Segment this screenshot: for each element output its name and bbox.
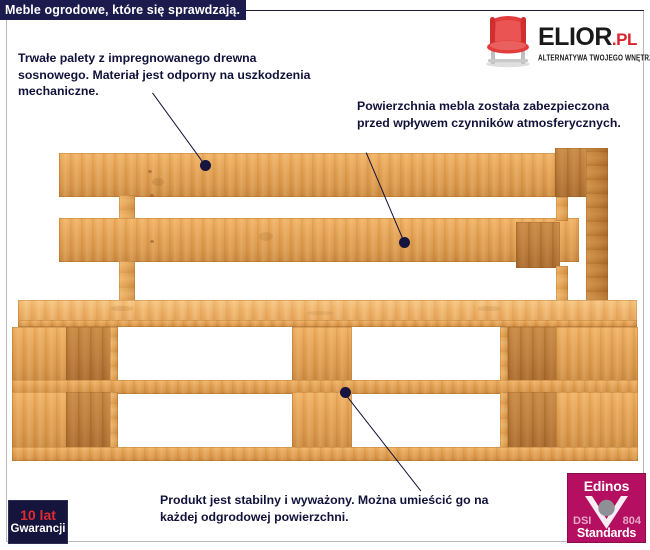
- pallet-block-lower-left-inner: [66, 392, 114, 449]
- pallet-block-upper-right-inner: [508, 327, 560, 382]
- pallet-block-lower-center: [292, 392, 352, 449]
- edinos-subtitle: Standards: [568, 526, 645, 540]
- edinos-title: Edinos: [568, 478, 645, 494]
- edinos-standards-badge: Edinos DSI 804 Standards: [567, 473, 646, 543]
- backrest-post-filler: [556, 197, 568, 221]
- wood-knot: [111, 306, 133, 311]
- wood-knot: [148, 170, 152, 173]
- red-chair-icon: [482, 14, 534, 68]
- logo-brand-text: ELIOR: [538, 23, 612, 51]
- wood-knot: [307, 311, 333, 315]
- pallet-spacer-upper-right: [500, 327, 508, 382]
- wood-knot: [259, 232, 273, 241]
- logo-brand: ELIOR.PL: [538, 24, 644, 53]
- backrest-plank-top: [59, 153, 579, 197]
- frame-border-right: [643, 10, 644, 542]
- wood-knot: [150, 240, 154, 243]
- pallet-spacer-upper-left: [110, 327, 118, 382]
- backrest-plank-bottom: [59, 218, 579, 262]
- warranty-years: 10 lat: [20, 508, 56, 523]
- pallet-bottom-rail: [12, 447, 638, 461]
- annotation-text-2: Powierzchnia mebla została zabezpieczona…: [357, 98, 637, 131]
- annotation-text-1: Trwałe palety z impregnowanego drewna so…: [18, 50, 318, 100]
- brand-logo: ELIOR.PL ALTERNATYWA TWOJEGO WNĘTRZA: [482, 14, 644, 72]
- pallet-block-upper-left: [12, 327, 72, 382]
- logo-domain: .PL: [612, 30, 637, 49]
- wood-knot: [150, 194, 154, 197]
- product-infographic: Meble ogrodowe, które się sprawdzają. EL…: [0, 0, 650, 550]
- backrest-leg-left: [119, 261, 135, 303]
- leader-line-3: [344, 393, 421, 492]
- header-banner: Meble ogrodowe, które się sprawdzają.: [0, 0, 246, 20]
- frame-border-left: [6, 10, 7, 542]
- pallet-spacer-lower-right: [500, 392, 508, 449]
- wood-knot: [478, 306, 500, 311]
- annotation-dot-2: [399, 237, 410, 248]
- pallet-block-upper-left-inner: [66, 327, 114, 382]
- annotation-dot-1: [200, 160, 211, 171]
- pallet-spacer-lower-left: [110, 392, 118, 449]
- logo-tagline: ALTERNATYWA TWOJEGO WNĘTRZA: [538, 54, 644, 63]
- annotation-dot-3: [340, 387, 351, 398]
- backrest-post-right: [586, 148, 608, 306]
- backrest-brace-right: [516, 222, 560, 268]
- wood-knot: [152, 178, 164, 186]
- pallet-block-upper-center: [292, 327, 352, 382]
- pallet-block-lower-right: [556, 392, 638, 449]
- pallet-block-upper-right: [556, 327, 638, 382]
- warranty-label: Gwarancji: [11, 523, 66, 536]
- seat-deck-edge: [18, 320, 637, 327]
- logo-wordmark: ELIOR.PL ALTERNATYWA TWOJEGO WNĘTRZA: [538, 24, 644, 61]
- annotation-text-3: Produkt jest stabilny i wyważony. Można …: [160, 492, 520, 525]
- banner-title: Meble ogrodowe, które się sprawdzają.: [5, 3, 240, 17]
- warranty-badge: 10 lat Gwarancji: [8, 500, 68, 544]
- frame-border-top: [240, 10, 644, 11]
- pallet-block-lower-right-inner: [508, 392, 560, 449]
- backrest-post-filler-lower: [556, 266, 568, 304]
- frame-border-bottom: [6, 541, 644, 542]
- pallet-block-lower-left: [12, 392, 72, 449]
